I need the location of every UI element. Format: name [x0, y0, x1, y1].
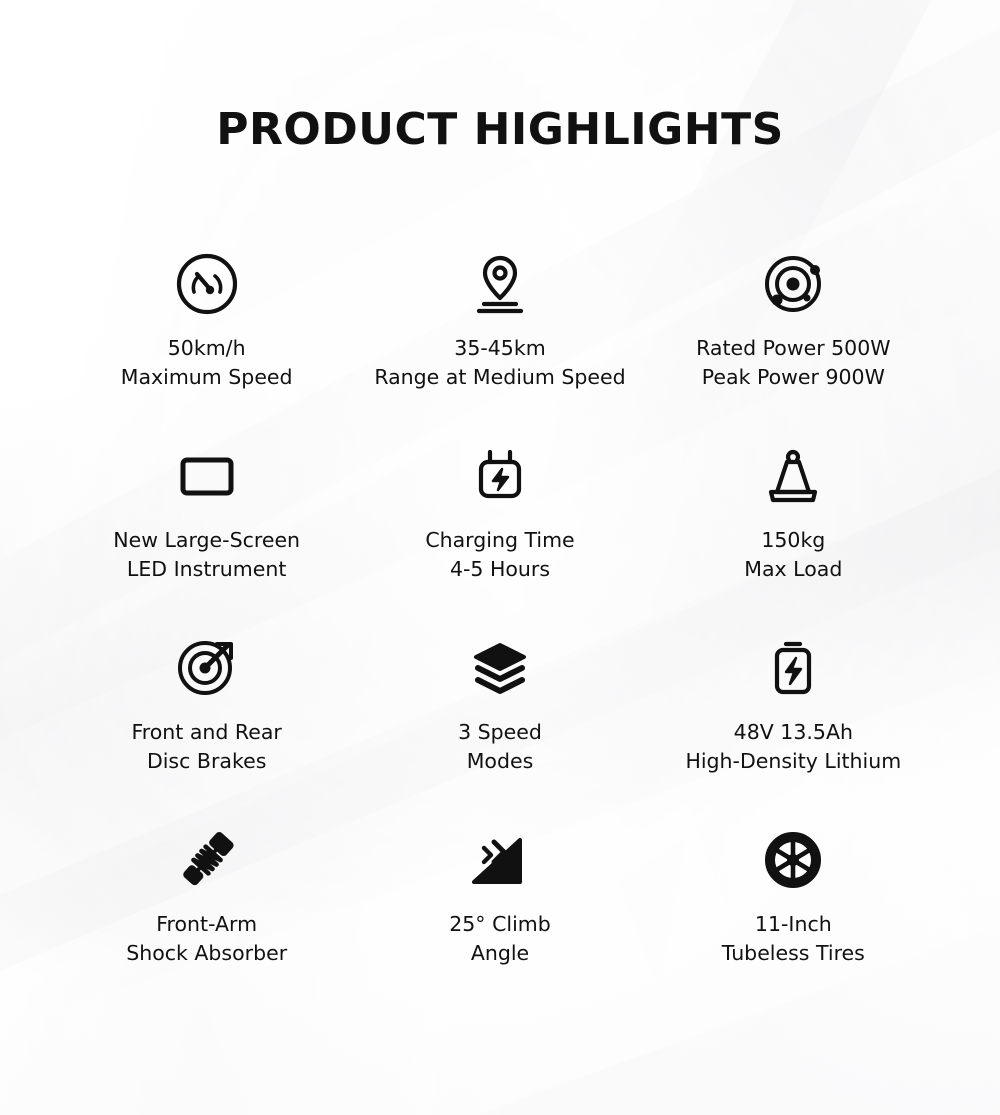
climb-angle-icon	[464, 822, 536, 898]
feature-item: Front and Rear Disc Brakes	[60, 630, 353, 822]
shock-absorber-icon	[171, 822, 243, 898]
location-pin-icon	[464, 246, 536, 322]
feature-item: 25° Climb Angle	[353, 822, 646, 1014]
feature-line-2: Shock Absorber	[126, 939, 287, 968]
page-title: PRODUCT HIGHLIGHTS	[0, 104, 1000, 155]
feature-item: New Large-Screen LED Instrument	[60, 438, 353, 630]
feature-caption: 25° Climb Angle	[449, 910, 551, 968]
motor-orbit-icon	[757, 246, 829, 322]
feature-caption: 3 Speed Modes	[458, 718, 542, 776]
feature-item: 3 Speed Modes	[353, 630, 646, 822]
feature-item: 11-Inch Tubeless Tires	[647, 822, 940, 1014]
feature-item: 50km/h Maximum Speed	[60, 246, 353, 438]
feature-caption: 48V 13.5Ah High-Density Lithium	[685, 718, 901, 776]
product-highlights-page: PRODUCT HIGHLIGHTS 50km/h Maximum Speed	[0, 0, 1000, 1115]
feature-line-1: 50km/h	[168, 336, 246, 360]
feature-line-1: 48V 13.5Ah	[734, 720, 853, 744]
feature-caption: 50km/h Maximum Speed	[121, 334, 293, 392]
feature-line-2: Peak Power 900W	[696, 363, 890, 392]
feature-line-1: Rated Power 500W	[696, 336, 890, 360]
feature-line-2: Disc Brakes	[131, 747, 281, 776]
feature-line-1: Front and Rear	[131, 720, 281, 744]
layers-speed-modes-icon	[464, 630, 536, 706]
feature-line-2: Tubeless Tires	[722, 939, 865, 968]
feature-caption: New Large-Screen LED Instrument	[113, 526, 300, 584]
feature-caption: Front and Rear Disc Brakes	[131, 718, 281, 776]
feature-item: Charging Time 4-5 Hours	[353, 438, 646, 630]
feature-item: Front-Arm Shock Absorber	[60, 822, 353, 1014]
battery-lightning-icon	[757, 630, 829, 706]
feature-item: Rated Power 500W Peak Power 900W	[647, 246, 940, 438]
feature-item: 150kg Max Load	[647, 438, 940, 630]
tire-wheel-icon	[757, 822, 829, 898]
feature-line-1: 11-Inch	[755, 912, 832, 936]
feature-line-2: Range at Medium Speed	[374, 363, 625, 392]
feature-line-2: Angle	[449, 939, 551, 968]
feature-caption: 150kg Max Load	[744, 526, 842, 584]
feature-grid: 50km/h Maximum Speed 35-45km Range at	[60, 246, 940, 1014]
feature-item: 35-45km Range at Medium Speed	[353, 246, 646, 438]
feature-line-1: New Large-Screen	[113, 528, 300, 552]
feature-line-1: 3 Speed	[458, 720, 542, 744]
feature-caption: 11-Inch Tubeless Tires	[722, 910, 865, 968]
feature-line-2: Max Load	[744, 555, 842, 584]
feature-caption: Charging Time 4-5 Hours	[425, 526, 574, 584]
speedometer-icon	[171, 246, 243, 322]
feature-caption: Rated Power 500W Peak Power 900W	[696, 334, 890, 392]
display-screen-icon	[171, 438, 243, 514]
feature-caption: Front-Arm Shock Absorber	[126, 910, 287, 968]
feature-line-1: 25° Climb	[449, 912, 551, 936]
feature-line-2: Maximum Speed	[121, 363, 293, 392]
feature-line-1: Charging Time	[425, 528, 574, 552]
feature-line-1: 35-45km	[454, 336, 545, 360]
charging-plug-icon	[464, 438, 536, 514]
feature-caption: 35-45km Range at Medium Speed	[374, 334, 625, 392]
feature-line-2: LED Instrument	[113, 555, 300, 584]
feature-line-2: High-Density Lithium	[685, 747, 901, 776]
feature-line-1: 150kg	[761, 528, 825, 552]
disc-brake-icon	[171, 630, 243, 706]
feature-line-2: Modes	[458, 747, 542, 776]
feature-line-2: 4-5 Hours	[425, 555, 574, 584]
feature-line-1: Front-Arm	[156, 912, 257, 936]
weight-load-icon	[757, 438, 829, 514]
feature-item: 48V 13.5Ah High-Density Lithium	[647, 630, 940, 822]
